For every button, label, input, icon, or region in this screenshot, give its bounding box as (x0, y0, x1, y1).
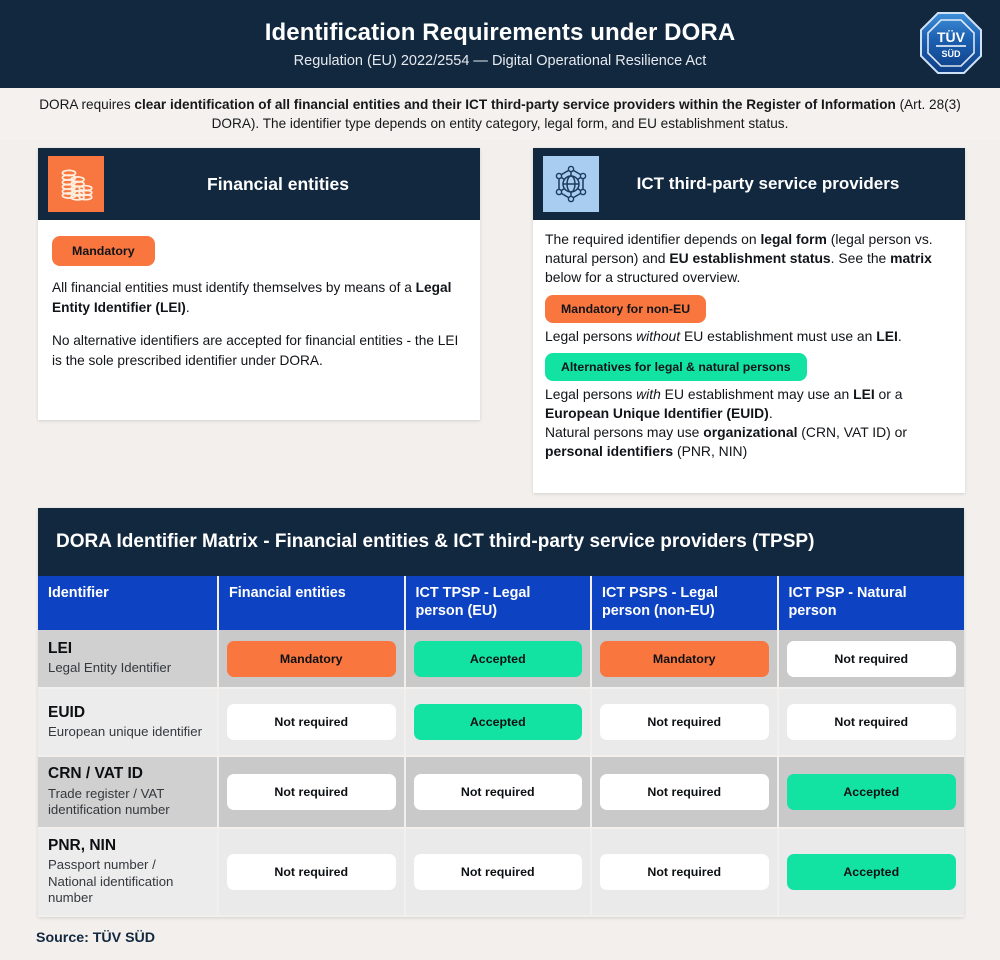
intro-text-emphasis: clear identification of all financial en… (134, 97, 895, 112)
status-badge: Not required (600, 854, 769, 890)
card-ict-providers-title: ICT third-party service providers (599, 174, 955, 194)
table-row: LEI Legal Entity Identifier Mandatory Ac… (38, 630, 964, 688)
page-header: Identification Requirements under DORA R… (0, 0, 1000, 88)
ict-p4-b: organizational (703, 424, 797, 440)
cell-lei-financial: Mandatory (218, 630, 405, 688)
ict-p1-d: EU establishment status (669, 250, 830, 266)
cell-crn-tpsp-eu: Not required (405, 756, 592, 828)
badge-mandatory: Mandatory (52, 236, 155, 266)
cell-euid-tpsp-eu: Accepted (405, 688, 592, 756)
ict-p2-d: LEI (876, 328, 898, 344)
cell-lei-tpsp-eu: Accepted (405, 630, 592, 688)
card-financial-entities-header: Financial entities (38, 148, 480, 220)
ict-p1-b: legal form (760, 231, 826, 247)
ict-p3-a: Legal persons (545, 386, 636, 402)
card-ict-providers-header: ICT third-party service providers (533, 148, 965, 220)
ict-p4-a: Natural persons may use (545, 424, 703, 440)
cell-euid-psps-non-eu: Not required (591, 688, 778, 756)
coins-stack-icon (48, 156, 104, 212)
cell-pnr-psps-non-eu: Not required (591, 828, 778, 916)
page-subtitle: Regulation (EU) 2022/2554 — Digital Oper… (294, 53, 707, 69)
row-header-euid: EUID European unique identifier (38, 688, 218, 756)
ict-p1-e: . See the (831, 250, 890, 266)
row-header-crn-vat: CRN / VAT ID Trade register / VAT identi… (38, 756, 218, 828)
cell-pnr-financial: Not required (218, 828, 405, 916)
status-badge: Not required (227, 774, 396, 810)
status-badge: Accepted (787, 774, 957, 810)
cell-crn-psps-non-eu: Not required (591, 756, 778, 828)
card-ict-providers-body: The required identifier depends on legal… (533, 220, 965, 472)
cell-pnr-tpsp-eu: Not required (405, 828, 592, 916)
status-badge: Accepted (787, 854, 957, 890)
status-badge: Not required (787, 704, 957, 740)
row-header-lei: LEI Legal Entity Identifier (38, 630, 218, 688)
row-title: LEI (48, 640, 207, 658)
cell-euid-natural: Not required (778, 688, 965, 756)
tuv-sud-logo-icon: TÜV SÜD (918, 10, 984, 76)
ict-paragraph-2: Legal persons without EU establishment m… (545, 327, 953, 346)
status-badge: Not required (787, 641, 957, 677)
row-title: EUID (48, 704, 207, 722)
matrix-table: Identifier Financial entities ICT TPSP -… (38, 576, 964, 917)
fe-p1-lead: All financial entities must identify the… (52, 280, 416, 295)
ict-p4-e: (PNR, NIN) (673, 443, 747, 459)
matrix-table-body: LEI Legal Entity Identifier Mandatory Ac… (38, 630, 964, 916)
status-badge: Mandatory (600, 641, 769, 677)
table-row: EUID European unique identifier Not requ… (38, 688, 964, 756)
card-financial-entities-title: Financial entities (104, 174, 470, 195)
table-header-row: Identifier Financial entities ICT TPSP -… (38, 576, 964, 630)
ict-p2-c: EU establishment must use an (680, 328, 876, 344)
page-title: Identification Requirements under DORA (265, 19, 736, 47)
card-financial-entities-body: Mandatory All financial entities must id… (38, 220, 480, 382)
row-header-pnr-nin: PNR, NIN Passport number / National iden… (38, 828, 218, 916)
status-badge: Mandatory (227, 641, 396, 677)
badge-alternatives: Alternatives for legal & natural persons (545, 353, 807, 381)
infographic-page: Identification Requirements under DORA R… (0, 0, 1000, 960)
col-header-financial-entities: Financial entities (218, 576, 405, 630)
intro-banner: DORA requires clear identification of al… (0, 88, 1000, 140)
network-globe-icon-glyph (550, 163, 592, 205)
row-subtitle: Legal Entity Identifier (48, 660, 207, 677)
ict-p1-g: below for a structured overview. (545, 269, 740, 285)
financial-entities-paragraph-1: All financial entities must identify the… (52, 278, 466, 317)
status-badge: Not required (600, 774, 769, 810)
ict-p3-c: EU establishment may use an (661, 386, 853, 402)
cell-crn-natural: Accepted (778, 756, 965, 828)
row-title: CRN / VAT ID (48, 765, 207, 783)
cell-crn-financial: Not required (218, 756, 405, 828)
card-ict-providers: ICT third-party service providers The re… (533, 148, 965, 493)
cell-lei-natural: Not required (778, 630, 965, 688)
ict-p3-b: with (636, 386, 661, 402)
intro-text-lead: DORA requires (39, 97, 134, 112)
fe-p1-tail: . (186, 300, 190, 315)
logo-top-text: TÜV (937, 29, 966, 45)
ict-p1-f: matrix (890, 250, 932, 266)
ict-p2-b: without (636, 328, 680, 344)
col-header-ict-psps-non-eu: ICT PSPS - Legal person (non-EU) (591, 576, 778, 630)
coins-stack-icon-glyph (56, 164, 96, 204)
matrix-title: DORA Identifier Matrix - Financial entit… (38, 508, 964, 576)
col-header-ict-tpsp-eu: ICT TPSP - Legal person (EU) (405, 576, 592, 630)
status-badge: Not required (227, 704, 396, 740)
col-header-identifier: Identifier (38, 576, 218, 630)
row-subtitle: European unique identifier (48, 724, 207, 741)
ict-p3-e: or a (875, 386, 903, 402)
source-label: Source: TÜV SÜD (36, 930, 155, 946)
status-badge: Not required (414, 854, 583, 890)
network-globe-icon (543, 156, 599, 212)
ict-p2-e: . (898, 328, 902, 344)
ict-p4-d: personal identifiers (545, 443, 673, 459)
status-badge: Accepted (414, 641, 583, 677)
ict-p3-f: European Unique Identifier (EUID) (545, 405, 769, 421)
ict-p4-c: (CRN, VAT ID) or (797, 424, 907, 440)
cell-euid-financial: Not required (218, 688, 405, 756)
matrix-table-head: Identifier Financial entities ICT TPSP -… (38, 576, 964, 630)
tuv-sud-logo: TÜV SÜD (918, 10, 984, 76)
status-badge: Accepted (414, 704, 583, 740)
row-subtitle: Trade register / VAT identification numb… (48, 786, 207, 819)
ict-p1-a: The required identifier depends on (545, 231, 760, 247)
badge-mandatory-non-eu: Mandatory for non-EU (545, 295, 706, 323)
ict-p2-a: Legal persons (545, 328, 636, 344)
intro-text: DORA requires clear identification of al… (26, 95, 974, 134)
row-title: PNR, NIN (48, 837, 207, 855)
ict-paragraph-1: The required identifier depends on legal… (545, 230, 953, 288)
logo-bottom-text: SÜD (941, 49, 961, 59)
ict-paragraph-3: Legal persons with EU establishment may … (545, 385, 953, 423)
ict-p3-g: . (769, 405, 773, 421)
cell-pnr-natural: Accepted (778, 828, 965, 916)
status-badge: Not required (227, 854, 396, 890)
ict-paragraph-4: Natural persons may use organizational (… (545, 423, 953, 461)
card-financial-entities: Financial entities Mandatory All financi… (38, 148, 480, 420)
dora-identifier-matrix: DORA Identifier Matrix - Financial entit… (38, 508, 964, 917)
ict-p3-d: LEI (853, 386, 875, 402)
status-badge: Not required (600, 704, 769, 740)
table-row: CRN / VAT ID Trade register / VAT identi… (38, 756, 964, 828)
cell-lei-psps-non-eu: Mandatory (591, 630, 778, 688)
table-row: PNR, NIN Passport number / National iden… (38, 828, 964, 916)
financial-entities-paragraph-2: No alternative identifiers are accepted … (52, 331, 466, 370)
col-header-ict-psp-natural: ICT PSP - Natural person (778, 576, 965, 630)
row-subtitle: Passport number / National identificatio… (48, 857, 207, 907)
status-badge: Not required (414, 774, 583, 810)
